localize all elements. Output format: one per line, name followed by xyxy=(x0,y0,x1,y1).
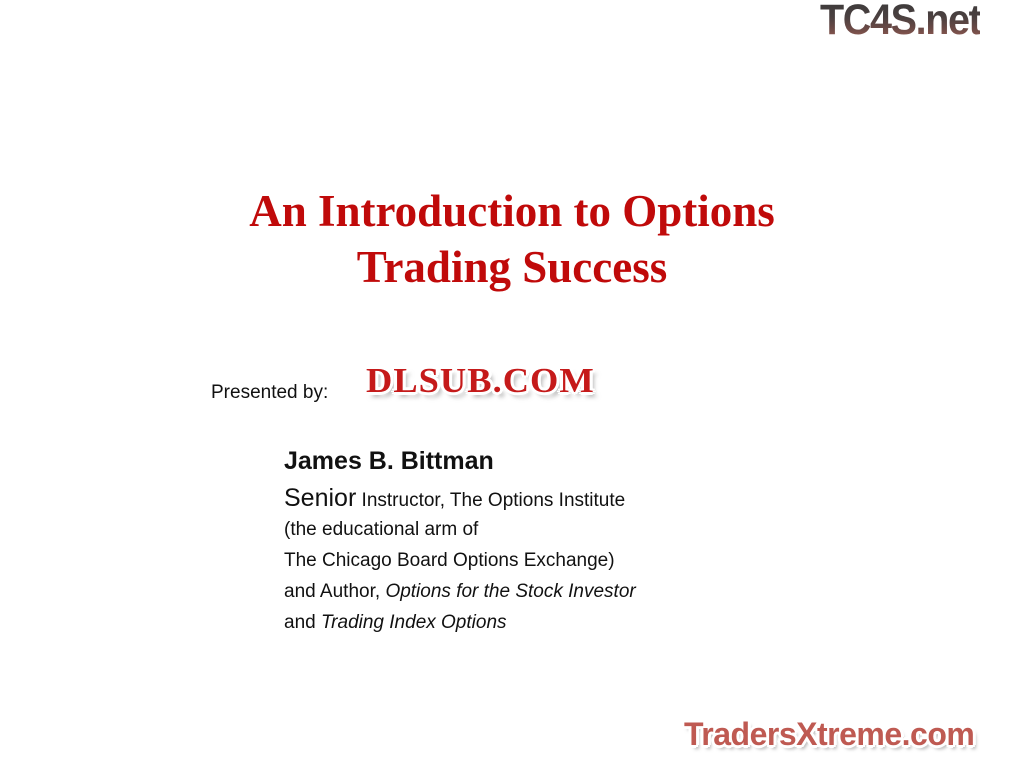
book-title-1: Options for the Stock Investor xyxy=(385,581,635,602)
slide-title-line-1: An Introduction to Options xyxy=(120,183,904,239)
speaker-block: James B. Bittman Senior Instructor, The … xyxy=(284,446,636,638)
slide-title: An Introduction to Options Trading Succe… xyxy=(120,183,904,295)
tc4s-site-logo: TC4S.net xyxy=(820,0,980,43)
tradersxtreme-watermark: TradersXtreme.com xyxy=(684,715,974,753)
speaker-name: James B. Bittman xyxy=(284,446,636,476)
dlsub-watermark: DLSUB.COM xyxy=(366,361,595,401)
author-prefix: and Author, xyxy=(284,581,380,602)
speaker-role: Senior Instructor, The Options Institute xyxy=(284,485,636,514)
speaker-affiliation-line-2: The Chicago Board Options Exchange) xyxy=(284,545,636,576)
speaker-affiliation-line-1: (the educational arm of xyxy=(284,514,636,545)
slide-title-line-2: Trading Success xyxy=(120,239,904,295)
speaker-role-rest: Instructor, The Options Institute xyxy=(362,490,626,511)
speaker-author-line-1: and Author, Options for the Stock Invest… xyxy=(284,576,636,607)
book-title-2: Trading Index Options xyxy=(321,612,507,633)
speaker-author-line-2: and Trading Index Options xyxy=(284,607,636,638)
presented-by-label: Presented by: xyxy=(211,382,328,404)
presentation-slide: TC4S.net An Introduction to Options Trad… xyxy=(0,0,1024,768)
book-conjunction: and xyxy=(284,612,316,633)
speaker-role-lead: Senior xyxy=(284,484,356,512)
